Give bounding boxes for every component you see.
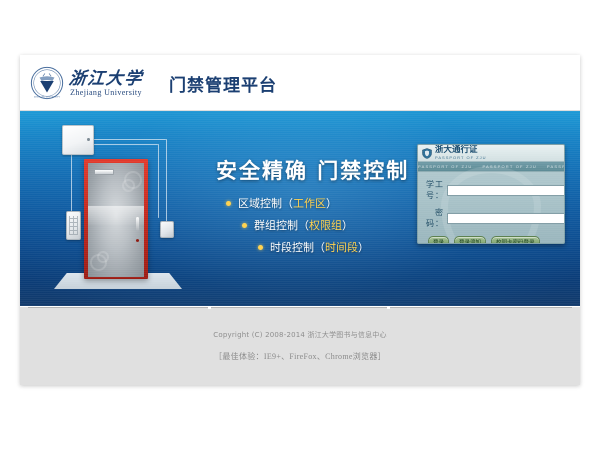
list-item: 区域控制（ 工作区 ） (226, 195, 369, 211)
watermark-text: PASSPORT OF ZJU (482, 164, 546, 169)
divider-notch (208, 306, 211, 309)
door-closer (94, 169, 114, 175)
bullet-dot-icon (242, 223, 247, 228)
login-panel-subtitle: PASSPORT OF ZJU (435, 156, 486, 160)
login-notice-button[interactable]: 登录须知 (454, 236, 486, 244)
keypad-grid-icon (69, 216, 78, 235)
zju-seal-icon: ZHEJIANG UNIVERSITY (30, 66, 64, 100)
university-logo[interactable]: ZHEJIANG UNIVERSITY 浙江大学 Zhejiang Univer… (30, 66, 143, 100)
page-title: 门禁管理平台 (169, 71, 277, 96)
watermark-text: PASSPORT OF ZJU (547, 164, 564, 169)
bullet-dot-icon (258, 245, 263, 250)
login-form: 学工号： 密 码： 登录 登录须知 校园卡密码登录 (418, 172, 564, 244)
student-staff-id-label: 学工号： (426, 179, 447, 201)
wire-right-inner (158, 144, 159, 218)
form-row-password: 密 码： (426, 207, 556, 229)
list-item-label: 区域控制（ (238, 195, 293, 211)
bullet-dot-icon (226, 201, 231, 206)
list-item-label: 时段控制（ (270, 239, 325, 255)
banner-feature-list: 区域控制（ 工作区 ） 群组控制（ 权限组 ） 时段控制（ 时间段 ） (226, 195, 369, 261)
access-control-door-illustration (48, 117, 188, 303)
student-staff-id-input[interactable] (447, 185, 565, 196)
login-panel-header: 浙大通行证 PASSPORT OF ZJU (418, 145, 564, 162)
controller-led-icon (87, 138, 90, 141)
gear-icon (97, 251, 109, 263)
list-item-tail: ） (358, 239, 369, 255)
divider-notch (387, 306, 390, 309)
door-handle (136, 217, 139, 231)
security-door (84, 159, 148, 279)
wire-keypad (71, 153, 72, 211)
door-lock-icon (136, 239, 139, 242)
form-row-userid: 学工号： (426, 179, 556, 201)
footer-divider (28, 307, 572, 308)
svg-text:ZHEJIANG UNIVERSITY: ZHEJIANG UNIVERSITY (34, 95, 61, 98)
watermark-text: PASSPORT OF ZJU (418, 164, 482, 169)
door-controller-box (62, 125, 94, 155)
hero-banner: 安全精确 门禁控制 区域控制（ 工作区 ） 群组控制（ 权限组 ） 时段控制（ … (20, 111, 580, 306)
password-input[interactable] (447, 213, 565, 224)
list-item-highlight: 工作区 (293, 195, 326, 211)
password-label: 密 码： (426, 207, 447, 229)
copyright-text: Copyright (C) 2008-2014 浙江大学图书与信息中心 (20, 307, 580, 340)
list-item-tail: ） (326, 195, 337, 211)
logo-chinese-name: 浙江大学 (68, 70, 144, 87)
wire-top-outer (92, 139, 166, 140)
login-button[interactable]: 登录 (428, 236, 449, 244)
gear-icon (122, 179, 135, 192)
passport-watermark-strip: PASSPORT OF ZJU PASSPORT OF ZJU PASSPORT… (418, 162, 564, 172)
list-item: 群组控制（ 权限组 ） (242, 217, 369, 233)
login-panel: 浙大通行证 PASSPORT OF ZJU PASSPORT OF ZJU PA… (417, 144, 565, 244)
site-footer: Copyright (C) 2008-2014 浙江大学图书与信息中心 ［最佳体… (20, 306, 580, 385)
application-page: ZHEJIANG UNIVERSITY 浙江大学 Zhejiang Univer… (20, 55, 580, 385)
site-header: ZHEJIANG UNIVERSITY 浙江大学 Zhejiang Univer… (20, 55, 580, 111)
wire-right-outer (166, 139, 167, 223)
list-item-tail: ） (342, 217, 353, 233)
banner-headline: 安全精确 门禁控制 (216, 155, 409, 185)
list-item-label: 群组控制（ (254, 217, 309, 233)
browser-support-note: ［最佳体验：IE9+、FireFox、Chrome浏览器］ (20, 340, 580, 362)
login-panel-title-stack: 浙大通行证 PASSPORT OF ZJU (435, 146, 486, 160)
card-reader (160, 221, 174, 238)
login-panel-title: 浙大通行证 (435, 146, 486, 155)
list-item-highlight: 时间段 (325, 239, 358, 255)
campus-card-login-button[interactable]: 校园卡密码登录 (491, 236, 540, 244)
logo-wordmark: 浙江大学 Zhejiang University (69, 70, 143, 97)
list-item-highlight: 权限组 (309, 217, 342, 233)
door-panel (88, 163, 144, 277)
login-button-row: 登录 登录须知 校园卡密码登录 (426, 236, 556, 244)
list-item: 时段控制（ 时间段 ） (258, 239, 369, 255)
keypad-reader (66, 211, 81, 240)
shield-icon (422, 148, 432, 159)
logo-english-name: Zhejiang University (69, 89, 143, 97)
wire-top-inner (92, 144, 158, 145)
